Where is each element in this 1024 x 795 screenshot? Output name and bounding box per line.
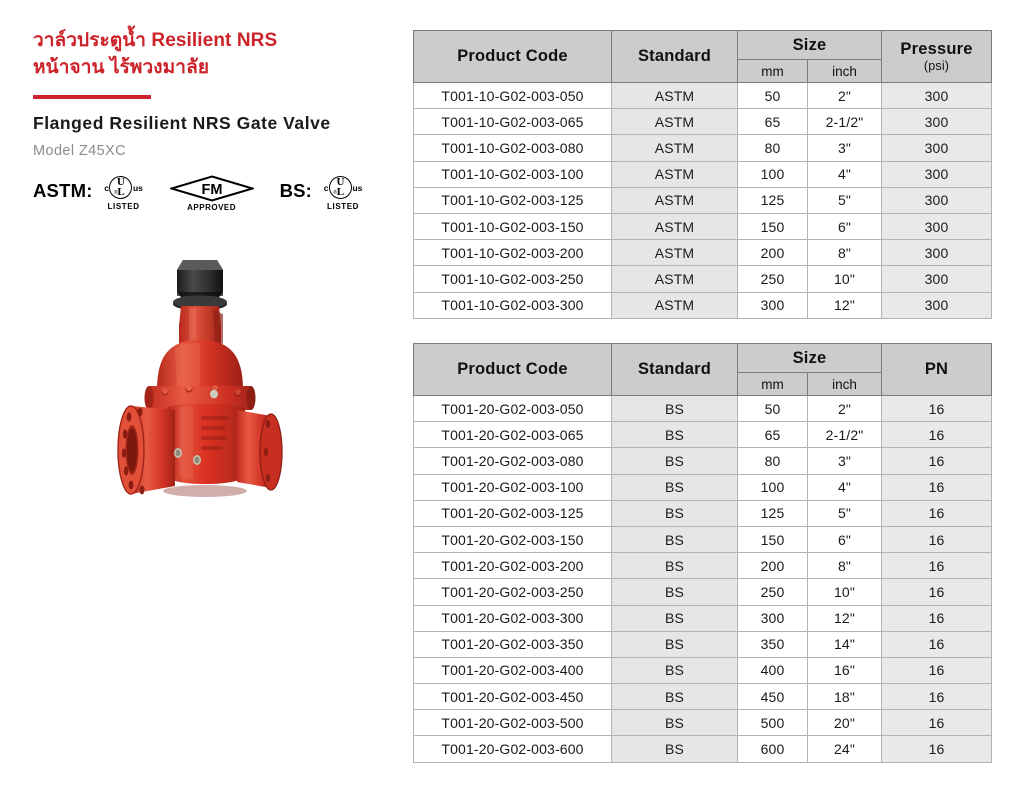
product-image-gate-valve [105,248,355,503]
cell-size-inch: 10" [808,266,882,292]
cell-size-inch: 3" [808,448,882,474]
header-pressure-text: Pressure [900,40,972,58]
header-size-mm: mm [738,60,808,83]
header-standard: Standard [612,31,738,83]
header-product-code: Product Code [414,31,612,83]
cell-size-mm: 150 [738,526,808,552]
astm-label: ASTM: [33,175,93,202]
table-row: T001-20-G02-003-600BS60024"16 [414,736,992,762]
cell-standard: BS [612,579,738,605]
cell-rating: 300 [882,135,992,161]
cell-product-code: T001-20-G02-003-200 [414,553,612,579]
header-pressure-unit: (psi) [882,59,991,73]
cell-size-inch: 8" [808,240,882,266]
header-size-inch: inch [808,60,882,83]
table-row: T001-10-G02-003-050ASTM502"300 [414,83,992,109]
cell-size-inch: 10" [808,579,882,605]
cell-product-code: T001-10-G02-003-080 [414,135,612,161]
header-pn: PN [882,344,992,396]
cell-rating: 16 [882,500,992,526]
ul-caption-listed: LISTED [98,202,150,211]
cell-rating: 16 [882,736,992,762]
cell-standard: BS [612,396,738,422]
table-row: T001-20-G02-003-350BS35014"16 [414,631,992,657]
cell-rating: 16 [882,710,992,736]
cell-size-inch: 2-1/2" [808,422,882,448]
table-row: T001-20-G02-003-080BS803"16 [414,448,992,474]
table-row: T001-20-G02-003-100BS1004"16 [414,474,992,500]
cell-size-mm: 100 [738,474,808,500]
cell-size-mm: 50 [738,396,808,422]
cell-rating: 300 [882,292,992,318]
cell-rating: 16 [882,605,992,631]
cell-product-code: T001-10-G02-003-050 [414,83,612,109]
title-thai-line-2: หน้าจาน ไร้พวงมาลัย [33,55,393,82]
fm-caption-approved: APPROVED [170,203,254,212]
cell-size-mm: 125 [738,500,808,526]
cell-product-code: T001-10-G02-003-100 [414,161,612,187]
cell-standard: BS [612,684,738,710]
cell-rating: 16 [882,474,992,500]
registered-mark-icon: ® [333,191,337,196]
fm-approved-icon: FM APPROVED [170,175,254,212]
cell-standard: BS [612,526,738,552]
cell-rating: 16 [882,448,992,474]
registered-mark-icon: ® [114,191,118,196]
cell-product-code: T001-20-G02-003-250 [414,579,612,605]
cell-product-code: T001-10-G02-003-300 [414,292,612,318]
cell-rating: 16 [882,657,992,683]
table-row: T001-20-G02-003-150BS1506"16 [414,526,992,552]
cell-standard: ASTM [612,109,738,135]
cell-size-inch: 2-1/2" [808,109,882,135]
certification-bs-group: BS: c U L ® us LISTED [280,175,369,211]
cell-product-code: T001-10-G02-003-250 [414,266,612,292]
cell-size-mm: 80 [738,448,808,474]
cell-size-mm: 65 [738,422,808,448]
cell-product-code: T001-20-G02-003-300 [414,605,612,631]
spec-table-astm: Product Code Standard Size Pressure (psi… [413,30,992,319]
cell-product-code: T001-20-G02-003-350 [414,631,612,657]
table-row: T001-10-G02-003-150ASTM1506"300 [414,213,992,239]
cell-size-mm: 250 [738,579,808,605]
cell-rating: 300 [882,83,992,109]
table-row: T001-10-G02-003-300ASTM30012"300 [414,292,992,318]
ul-circle-glyph: U L ® [329,176,352,199]
cell-standard: BS [612,422,738,448]
cell-size-mm: 300 [738,292,808,318]
certification-row: ASTM: c U L ® us LISTED [33,175,393,221]
cell-size-inch: 5" [808,500,882,526]
cell-product-code: T001-20-G02-003-400 [414,657,612,683]
cell-size-mm: 200 [738,240,808,266]
cell-standard: BS [612,631,738,657]
cell-standard: BS [612,657,738,683]
cell-size-mm: 150 [738,213,808,239]
cell-size-mm: 100 [738,161,808,187]
bs-label: BS: [280,175,312,202]
cell-product-code: T001-20-G02-003-100 [414,474,612,500]
ul-listed-icon-bs: c U L ® us LISTED [317,175,369,211]
cell-rating: 16 [882,579,992,605]
table-header-astm: Product Code Standard Size Pressure (psi… [414,31,992,83]
page-title-english: Flanged Resilient NRS Gate Valve [33,113,393,134]
cell-standard: ASTM [612,135,738,161]
table-row: T001-10-G02-003-080ASTM803"300 [414,135,992,161]
cell-size-inch: 6" [808,213,882,239]
header-size-inch: inch [808,373,882,396]
cell-size-inch: 5" [808,187,882,213]
cell-size-inch: 4" [808,474,882,500]
cell-rating: 16 [882,422,992,448]
cell-standard: BS [612,553,738,579]
cell-product-code: T001-20-G02-003-125 [414,500,612,526]
table-row: T001-20-G02-003-250BS25010"16 [414,579,992,605]
cell-rating: 300 [882,187,992,213]
cell-size-mm: 400 [738,657,808,683]
table-row: T001-20-G02-003-400BS40016"16 [414,657,992,683]
table-row: T001-10-G02-003-250ASTM25010"300 [414,266,992,292]
cell-size-mm: 300 [738,605,808,631]
table-row: T001-20-G02-003-500BS50020"16 [414,710,992,736]
spec-table-bs: Product Code Standard Size PN mm inch T0… [413,343,992,763]
cell-rating: 16 [882,396,992,422]
cell-standard: BS [612,474,738,500]
ul-suffix-us: us [133,183,143,193]
cell-product-code: T001-20-G02-003-080 [414,448,612,474]
cell-size-mm: 450 [738,684,808,710]
table-row: T001-20-G02-003-125BS1255"16 [414,500,992,526]
table-row: T001-20-G02-003-450BS45018"16 [414,684,992,710]
cell-rating: 300 [882,109,992,135]
cell-rating: 300 [882,266,992,292]
cell-standard: ASTM [612,292,738,318]
cell-product-code: T001-20-G02-003-500 [414,710,612,736]
table-row: T001-20-G02-003-065BS652-1/2"16 [414,422,992,448]
cell-rating: 16 [882,631,992,657]
table-header-bs: Product Code Standard Size PN mm inch [414,344,992,396]
ul-circle-glyph: U L ® [109,176,132,199]
cell-rating: 16 [882,526,992,552]
ul-suffix-us: us [352,183,362,193]
table-body-bs: T001-20-G02-003-050BS502"16T001-20-G02-0… [414,396,992,763]
cell-size-inch: 12" [808,605,882,631]
cell-rating: 16 [882,684,992,710]
cell-size-mm: 500 [738,710,808,736]
cell-standard: BS [612,736,738,762]
cell-product-code: T001-10-G02-003-125 [414,187,612,213]
model-number: Model Z45XC [33,143,393,159]
cell-size-inch: 2" [808,83,882,109]
table-row: T001-20-G02-003-300BS30012"16 [414,605,992,631]
certification-astm-group: ASTM: c U L ® us LISTED [33,175,254,212]
cell-size-mm: 125 [738,187,808,213]
cell-standard: BS [612,710,738,736]
cell-size-mm: 600 [738,736,808,762]
cell-standard: ASTM [612,266,738,292]
page-title-thai: วาล์วประตูน้ำ Resilient NRS หน้าจาน ไร้พ… [33,28,393,82]
table-row: T001-20-G02-003-200BS2008"16 [414,553,992,579]
table-row: T001-10-G02-003-125ASTM1255"300 [414,187,992,213]
cell-size-inch: 14" [808,631,882,657]
cell-standard: ASTM [612,240,738,266]
cell-product-code: T001-10-G02-003-200 [414,240,612,266]
header-standard: Standard [612,344,738,396]
cell-standard: ASTM [612,213,738,239]
cell-product-code: T001-20-G02-003-450 [414,684,612,710]
svg-text:FM: FM [201,182,222,198]
cell-standard: ASTM [612,161,738,187]
product-info-panel: วาล์วประตูน้ำ Resilient NRS หน้าจาน ไร้พ… [33,28,393,221]
cell-size-inch: 16" [808,657,882,683]
cell-size-inch: 8" [808,553,882,579]
cell-product-code: T001-20-G02-003-600 [414,736,612,762]
cell-size-mm: 250 [738,266,808,292]
cell-product-code: T001-20-G02-003-065 [414,422,612,448]
table-row: T001-10-G02-003-100ASTM1004"300 [414,161,992,187]
header-size: Size [738,344,882,373]
table-row: T001-20-G02-003-050BS502"16 [414,396,992,422]
cell-size-inch: 12" [808,292,882,318]
cell-rating: 300 [882,213,992,239]
cell-standard: ASTM [612,187,738,213]
cell-rating: 300 [882,240,992,266]
ul-caption-listed: LISTED [317,202,369,211]
cell-product-code: T001-20-G02-003-050 [414,396,612,422]
header-size: Size [738,31,882,60]
table-body-astm: T001-10-G02-003-050ASTM502"300T001-10-G0… [414,83,992,319]
cell-size-inch: 4" [808,161,882,187]
cell-standard: BS [612,605,738,631]
cell-product-code: T001-10-G02-003-065 [414,109,612,135]
cell-standard: BS [612,448,738,474]
cell-standard: ASTM [612,83,738,109]
ul-prefix-c: c [104,183,109,193]
cell-rating: 16 [882,553,992,579]
cell-rating: 300 [882,161,992,187]
cell-standard: BS [612,500,738,526]
cell-size-inch: 24" [808,736,882,762]
table-row: T001-10-G02-003-200ASTM2008"300 [414,240,992,266]
cell-size-inch: 20" [808,710,882,736]
header-product-code: Product Code [414,344,612,396]
ul-listed-icon-astm: c U L ® us LISTED [98,175,150,211]
accent-divider [33,95,151,99]
product-spec-sheet: วาล์วประตูน้ำ Resilient NRS หน้าจาน ไร้พ… [0,0,1024,795]
cell-size-inch: 3" [808,135,882,161]
cell-size-mm: 50 [738,83,808,109]
cell-size-mm: 80 [738,135,808,161]
title-thai-line-1: วาล์วประตูน้ำ Resilient NRS [33,28,393,55]
fm-diamond-shape: FM [170,175,254,202]
header-pressure: Pressure (psi) [882,31,992,83]
cell-size-mm: 65 [738,109,808,135]
ul-prefix-c: c [324,183,329,193]
cell-size-mm: 200 [738,553,808,579]
cell-size-inch: 2" [808,396,882,422]
table-row: T001-10-G02-003-065ASTM652-1/2"300 [414,109,992,135]
cell-size-mm: 350 [738,631,808,657]
header-size-mm: mm [738,373,808,396]
cell-product-code: T001-10-G02-003-150 [414,213,612,239]
cell-product-code: T001-20-G02-003-150 [414,526,612,552]
cell-size-inch: 18" [808,684,882,710]
cell-size-inch: 6" [808,526,882,552]
